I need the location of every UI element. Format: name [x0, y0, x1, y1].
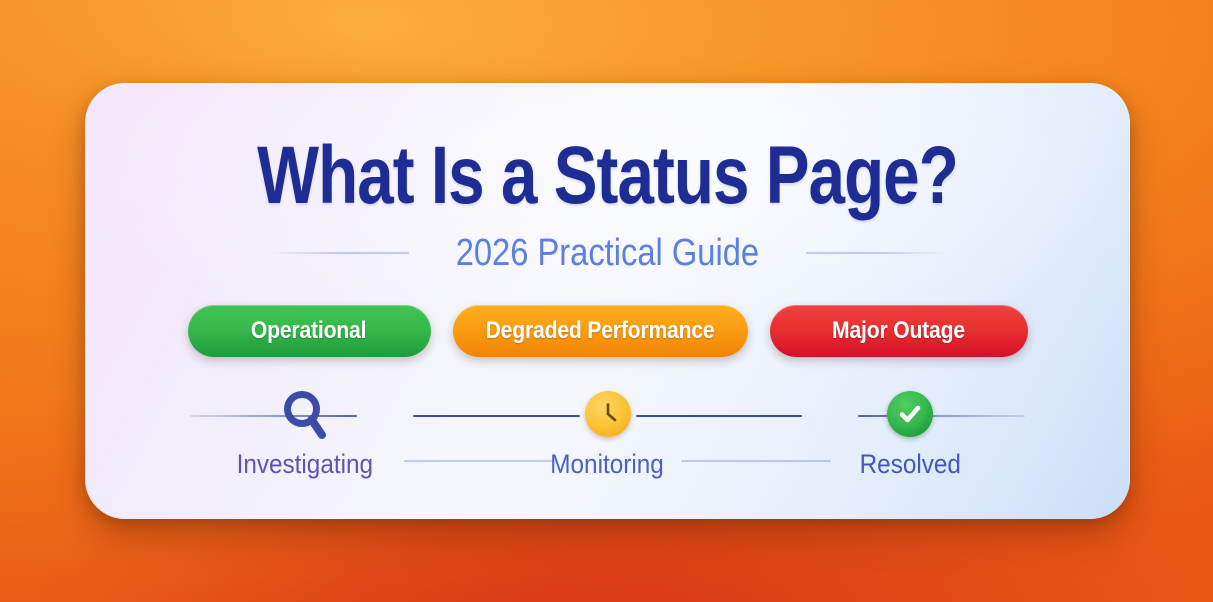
subtitle-rule-left	[269, 252, 409, 254]
incident-timeline: Investigating Monitoring	[85, 383, 1130, 493]
status-pill-operational[interactable]: Operational	[188, 305, 431, 357]
status-pill-major-outage-label: Major Outage	[832, 317, 965, 345]
timeline-step-resolved[interactable]: Resolved	[795, 383, 1025, 478]
check-circle-icon-badge	[887, 391, 933, 437]
status-pill-major-outage[interactable]: Major Outage	[770, 305, 1028, 357]
page-title: What Is a Status Page?	[190, 135, 1026, 217]
subtitle-rule-right	[806, 252, 946, 254]
status-page-poster: What Is a Status Page? 2026 Practical Gu…	[0, 0, 1213, 602]
status-pill-degraded-performance-label: Degraded Performance	[486, 317, 715, 345]
timeline-step-monitoring[interactable]: Monitoring	[493, 383, 723, 478]
timeline-step-monitoring-label: Monitoring	[551, 451, 664, 478]
check-circle-icon	[887, 383, 933, 445]
card-content: What Is a Status Page? 2026 Practical Gu…	[85, 83, 1130, 519]
timeline-steps: Investigating Monitoring	[190, 383, 1025, 493]
timeline-step-investigating[interactable]: Investigating	[190, 383, 420, 478]
status-pill-group: Operational Degraded Performance Major O…	[85, 305, 1130, 357]
content-card: What Is a Status Page? 2026 Practical Gu…	[85, 83, 1130, 519]
status-pill-degraded-performance[interactable]: Degraded Performance	[453, 305, 748, 357]
subtitle-row: 2026 Practical Guide	[85, 231, 1130, 275]
clock-icon-badge	[585, 391, 631, 437]
page-subtitle: 2026 Practical Guide	[456, 234, 759, 272]
magnifier-icon	[277, 383, 333, 445]
clock-icon	[585, 383, 631, 445]
status-pill-operational-label: Operational	[251, 317, 366, 345]
timeline-step-resolved-label: Resolved	[859, 451, 960, 478]
timeline-step-investigating-label: Investigating	[237, 451, 373, 478]
